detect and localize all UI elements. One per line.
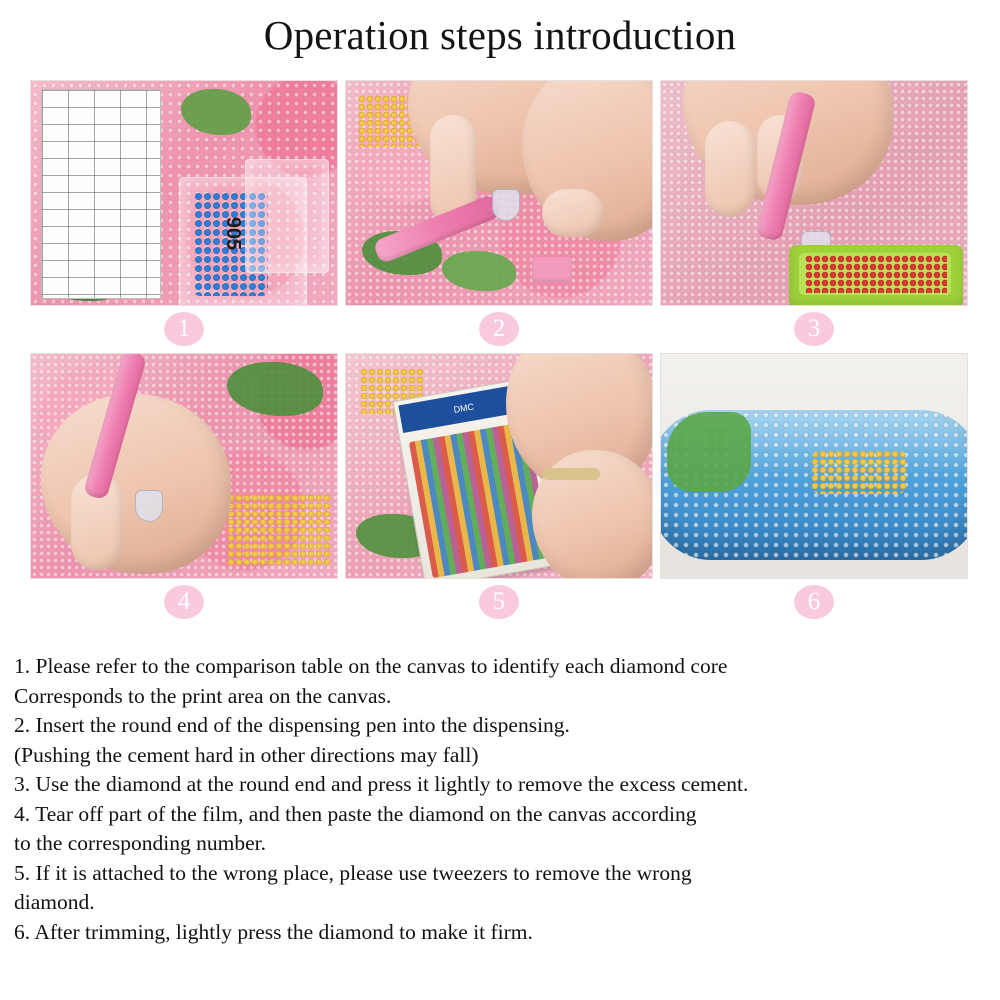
diamond-tray — [789, 245, 963, 306]
step-badge-row-1: 1 — [30, 306, 338, 353]
step-badge-3: 3 — [794, 312, 834, 346]
color-comparison-chart — [41, 89, 161, 299]
step-photo-1: 905 — [30, 80, 338, 306]
pen-tip — [135, 490, 163, 522]
step-badge-row-4: 4 — [30, 579, 338, 626]
step-cell-1: 905 1 — [30, 80, 338, 353]
thumb — [542, 189, 604, 237]
step-cell-2: 2 — [345, 80, 653, 353]
step-photo-2 — [345, 80, 653, 306]
instruction-line: 5. If it is attached to the wrong place,… — [14, 859, 989, 889]
steps-row-2: 4 DMC 5 — [30, 353, 970, 626]
step-badge-6: 6 — [794, 585, 834, 619]
cement-square — [532, 257, 572, 283]
step-badge-row-5: 5 — [345, 579, 653, 626]
steps-grid: 905 1 — [30, 80, 970, 626]
step-cell-5: DMC 5 — [345, 353, 653, 626]
step-photo-6 — [660, 353, 968, 579]
spare-bag — [245, 159, 329, 273]
pen-tip — [492, 189, 520, 221]
page-title: Operation steps introduction — [0, 0, 1000, 61]
step-cell-4: 4 — [30, 353, 338, 626]
steps-row-1: 905 1 — [30, 80, 970, 353]
instruction-line: 1. Please refer to the comparison table … — [14, 652, 989, 682]
bracelet — [542, 468, 600, 480]
instruction-line: Corresponds to the print area on the can… — [14, 682, 989, 712]
step-photo-4 — [30, 353, 338, 579]
step-badge-row-2: 2 — [345, 306, 653, 353]
gold-bead-area — [227, 494, 331, 566]
red-diamond-beads — [805, 255, 947, 293]
gold-bead-region — [811, 450, 907, 494]
instructions-block: 1. Please refer to the comparison table … — [14, 652, 989, 947]
step-badge-1: 1 — [164, 312, 204, 346]
step-badge-2: 2 — [479, 312, 519, 346]
step-cell-3: 3 — [660, 80, 968, 353]
step-photo-3 — [660, 80, 968, 306]
instruction-line: 4. Tear off part of the film, and then p… — [14, 800, 989, 830]
instruction-line: 3. Use the diamond at the round end and … — [14, 770, 989, 800]
step-badge-4: 4 — [164, 585, 204, 619]
step-badge-row-6: 6 — [660, 579, 968, 626]
step-badge-5: 5 — [479, 585, 519, 619]
finger — [705, 121, 755, 217]
step-photo-5: DMC — [345, 353, 653, 579]
operation-steps-page: Operation steps introduction 905 — [0, 0, 1000, 1000]
chart-gridlines — [42, 90, 160, 298]
instruction-line: (Pushing the cement hard in other direct… — [14, 741, 989, 771]
step-badge-row-3: 3 — [660, 306, 968, 353]
instruction-line: 6. After trimming, lightly press the dia… — [14, 918, 989, 948]
step-cell-6: 6 — [660, 353, 968, 626]
green-region — [667, 412, 751, 492]
instruction-line: 2. Insert the round end of the dispensin… — [14, 711, 989, 741]
instruction-line: to the corresponding number. — [14, 829, 989, 859]
instruction-line: diamond. — [14, 888, 989, 918]
bag-code-label: 905 — [221, 217, 244, 250]
